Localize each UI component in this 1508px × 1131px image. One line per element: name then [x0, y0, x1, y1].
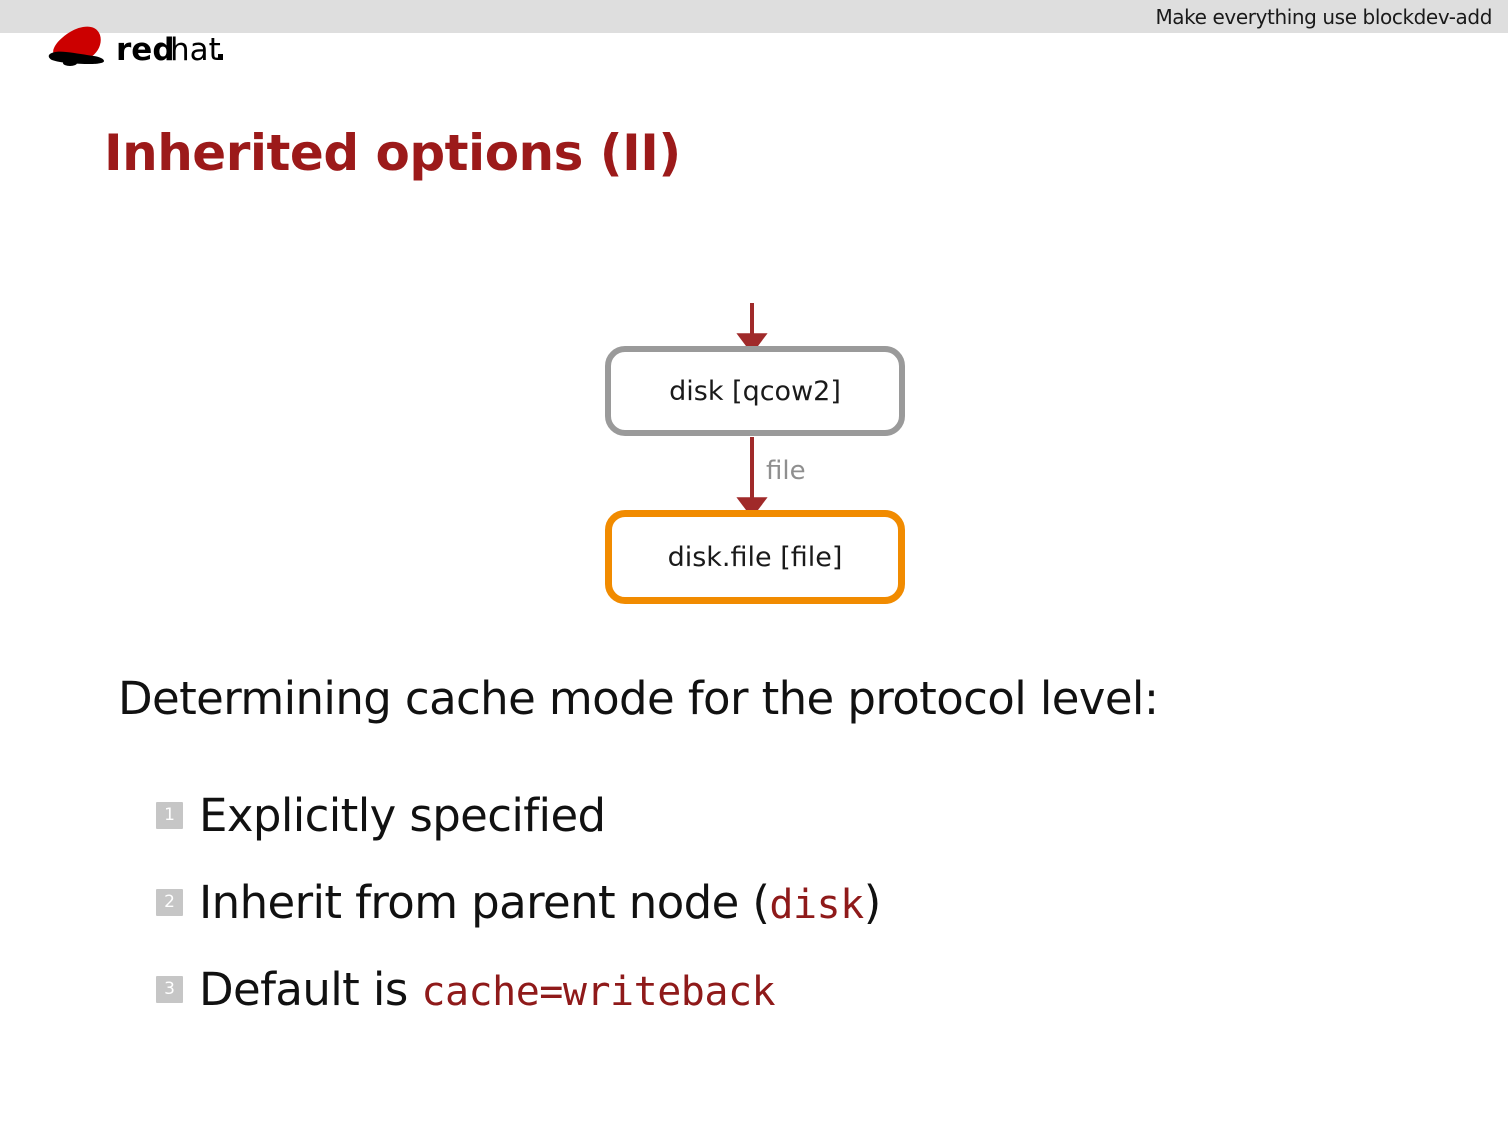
- list-item-text: Default is cache=writeback: [199, 963, 775, 1016]
- shadowman-hat-icon: [49, 27, 104, 66]
- header-title: Make everything use blockdev-add: [1155, 5, 1492, 29]
- list-item: 2 Inherit from parent node (disk): [156, 859, 1356, 946]
- node-disk[interactable]: disk [qcow2]: [605, 346, 905, 436]
- list-item-text-before: Explicitly specified: [199, 789, 606, 842]
- slide: Make everything use blockdev-add red hat…: [0, 0, 1508, 1131]
- list-item-code: cache=writeback: [421, 969, 775, 1015]
- logo-period: [218, 54, 223, 60]
- enumerated-list: 1 Explicitly specified 2 Inherit from pa…: [156, 772, 1356, 1033]
- list-item-text-before: Inherit from parent node (: [199, 876, 769, 929]
- list-item-text-before: Default is: [199, 963, 421, 1016]
- node-disk-label: disk [qcow2]: [669, 376, 841, 407]
- body-lead-text: Determining cache mode for the protocol …: [118, 672, 1158, 725]
- list-item: 1 Explicitly specified: [156, 772, 1356, 859]
- list-item-number-badge: 3: [156, 976, 183, 1003]
- node-disk-file[interactable]: disk.file [file]: [605, 510, 905, 604]
- list-item: 3 Default is cache=writeback: [156, 946, 1356, 1033]
- redhat-logo: red hat: [42, 18, 242, 74]
- list-item-text: Inherit from parent node (disk): [199, 876, 881, 929]
- node-disk-file-label: disk.file [file]: [668, 542, 843, 573]
- logo-wordmark-red: red: [116, 32, 175, 68]
- edge-label-file: file: [766, 456, 806, 486]
- list-item-number-badge: 1: [156, 802, 183, 829]
- list-item-code: disk: [769, 882, 863, 928]
- list-item-text: Explicitly specified: [199, 789, 606, 842]
- logo-wordmark-hat: hat: [170, 32, 221, 68]
- page-title: Inherited options (II): [104, 124, 681, 182]
- list-item-number-badge: 2: [156, 889, 183, 916]
- list-item-text-after: ): [864, 876, 881, 929]
